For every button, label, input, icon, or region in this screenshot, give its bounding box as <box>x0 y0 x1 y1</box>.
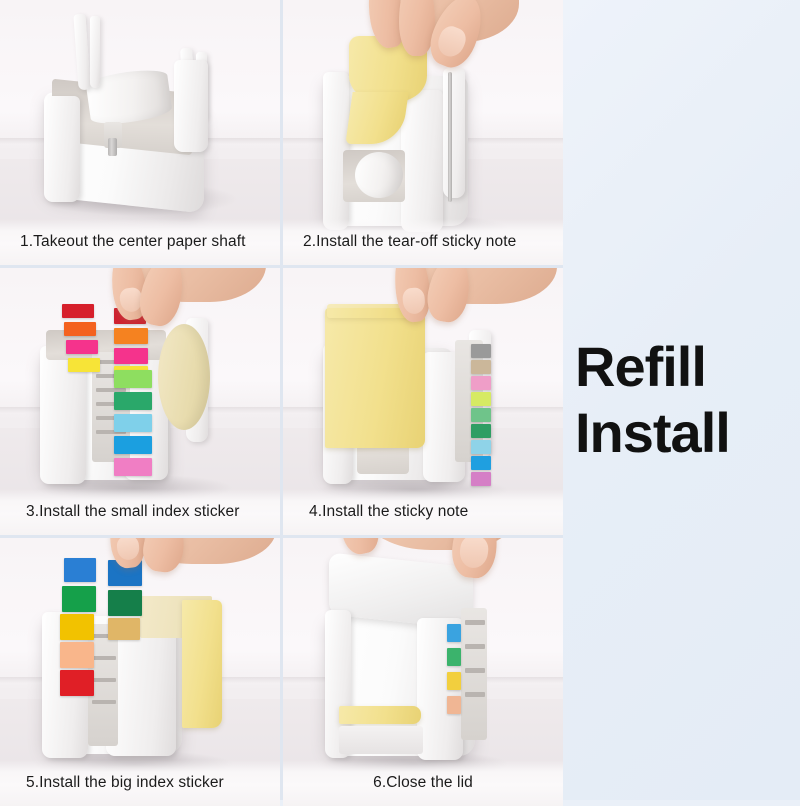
dispensed-note-strip <box>339 706 421 724</box>
index-finger <box>107 538 147 570</box>
hand <box>389 268 559 346</box>
inner-roll-core <box>355 152 403 198</box>
index-tab-yellow <box>68 358 100 372</box>
step-caption-text-2: 2.Install the tear-off sticky note <box>303 233 516 251</box>
index-finger <box>336 538 383 557</box>
index-tab-orange <box>64 322 96 336</box>
step-caption-2: 2.Install the tear-off sticky note <box>283 219 563 265</box>
step-panel-2: 2.Install the tear-off sticky note <box>283 0 563 265</box>
dispenser-front-slot <box>339 726 423 754</box>
index-tab-pink-2 <box>114 348 148 364</box>
index-tab-green <box>447 648 461 666</box>
step-caption-text-4: 4.Install the sticky note <box>309 503 468 521</box>
index-tab-pink <box>66 340 98 354</box>
step-caption-3: 3.Install the small index sticker <box>0 489 280 535</box>
big-tab-blue <box>64 558 96 582</box>
index-slot <box>92 700 116 704</box>
infographic-page: 1.Takeout the center paper shaft <box>0 0 800 800</box>
index-tab-skyblue <box>114 414 152 432</box>
index-slot <box>465 692 485 697</box>
spring-clip <box>108 138 117 156</box>
hand <box>355 0 525 96</box>
step-panel-1: 1.Takeout the center paper shaft <box>0 0 280 265</box>
big-tab-green <box>62 586 96 612</box>
thumb-nail <box>458 538 489 569</box>
step-panel-5: 5.Install the big index sticker <box>0 538 280 806</box>
big-tab-yellow <box>60 614 94 640</box>
big-tab-peach <box>60 642 94 668</box>
index-tab-skyblue <box>471 440 491 454</box>
index-tab-blue <box>447 624 461 642</box>
big-tab-red <box>60 670 94 696</box>
step-panel-4: 4.Install the sticky note <box>283 268 563 535</box>
step-caption-text-1: 1.Takeout the center paper shaft <box>20 233 246 251</box>
index-tab-yellow <box>447 672 461 690</box>
big-tab-tan-held <box>108 618 140 640</box>
index-tab-blue <box>114 436 152 454</box>
step-caption-1: 1.Takeout the center paper shaft <box>0 219 280 265</box>
index-tab-blue <box>471 456 491 470</box>
dispenser-side-panel <box>174 60 208 152</box>
hand <box>104 538 274 608</box>
step-caption-text-5: 5.Install the big index sticker <box>26 774 224 792</box>
step-caption-6: 6.Close the lid <box>283 760 563 806</box>
index-tab-red <box>62 304 94 318</box>
index-slot <box>92 656 116 660</box>
steps-grid: 1.Takeout the center paper shaft <box>0 0 563 800</box>
index-tab-teal <box>114 392 152 410</box>
hero-title-line-2: Install <box>575 400 800 466</box>
hero-title: Refill Install <box>575 334 800 466</box>
step-caption-4: 4.Install the sticky note <box>283 489 563 535</box>
step-caption-5: 5.Install the big index sticker <box>0 760 280 806</box>
dispenser-left-arm-inner <box>90 16 100 88</box>
step-caption-text-3: 3.Install the small index sticker <box>26 503 240 521</box>
index-tab-tan <box>471 360 491 374</box>
index-tab-lime <box>471 392 491 406</box>
index-tab-green <box>114 370 152 388</box>
step-caption-text-6: 6.Close the lid <box>373 774 473 792</box>
finger-nail <box>116 538 140 561</box>
index-tab-peach <box>447 696 461 714</box>
index-tab-green <box>471 424 491 438</box>
step-panel-3: 3.Install the small index sticker <box>0 268 280 535</box>
dispenser-front-wall <box>44 96 80 202</box>
hero-panel: Refill Install <box>563 0 800 800</box>
index-tab-mint <box>471 408 491 422</box>
dispenser-right-wing <box>401 90 443 232</box>
hero-title-line-1: Refill <box>575 335 706 398</box>
index-slot <box>465 620 485 625</box>
step-panel-6: 6.Close the lid <box>283 538 563 806</box>
finger-nail <box>402 287 427 315</box>
thumb <box>449 538 500 580</box>
thumb-nail <box>434 23 469 61</box>
thumb <box>424 268 475 325</box>
index-slot <box>465 668 485 673</box>
index-slot-plate <box>461 608 487 740</box>
hand <box>106 268 266 340</box>
index-tab-magenta <box>114 458 152 476</box>
index-slot <box>465 644 485 649</box>
index-tab-grey <box>471 344 491 358</box>
index-tab-violet <box>471 472 491 486</box>
index-tab-pink <box>471 376 491 390</box>
hand <box>337 538 527 592</box>
index-slot <box>92 678 116 682</box>
sticky-note-side <box>182 600 222 728</box>
thumb <box>140 538 187 575</box>
